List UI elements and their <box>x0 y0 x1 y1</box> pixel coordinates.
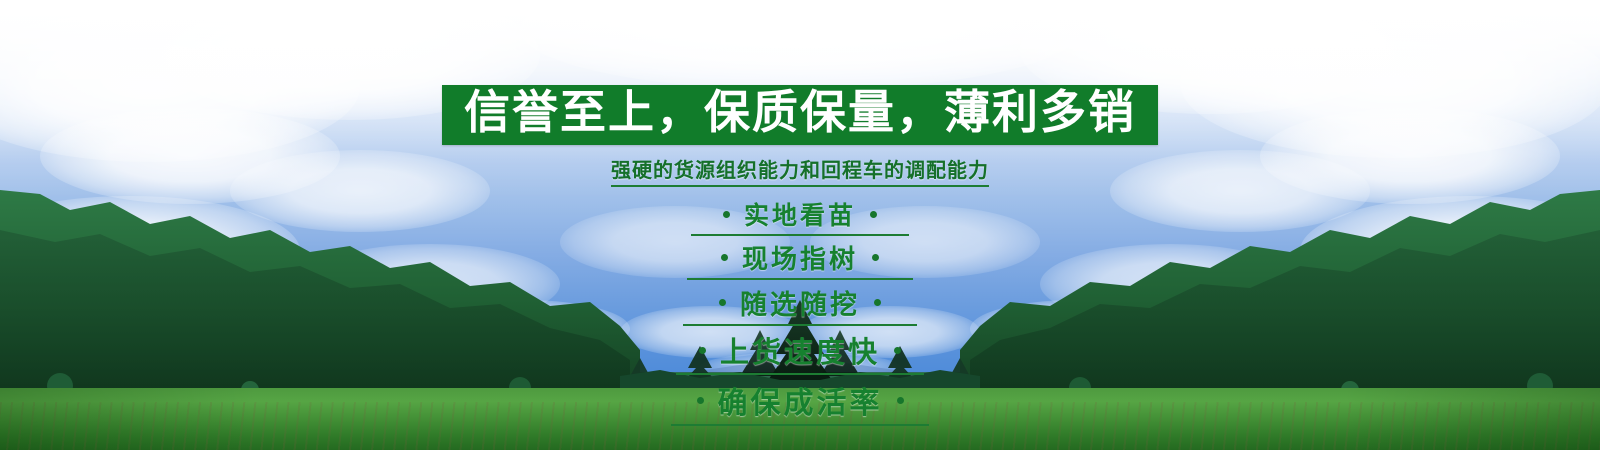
feature-item: 随选随挖 <box>683 282 917 326</box>
feature-item: 确保成活率 <box>671 377 929 426</box>
feature-label: 确保成活率 <box>718 378 883 422</box>
bullet-dot-icon <box>870 211 877 218</box>
feature-label: 实地看苗 <box>744 196 856 232</box>
bullet-dot-icon <box>897 397 904 404</box>
feature-label: 随选随挖 <box>740 283 860 322</box>
feature-list: 实地看苗 现场指树 随选随挖 上货速度快 确保成活率 <box>671 195 929 428</box>
feature-label: 上货速度快 <box>720 329 880 371</box>
bullet-dot-icon <box>719 299 726 306</box>
feature-item: 现场指树 <box>687 238 913 280</box>
bullet-dot-icon <box>723 211 730 218</box>
bullet-dot-icon <box>699 347 706 354</box>
banner-content: 信誉至上，保质保量，薄利多销 强硬的货源组织能力和回程车的调配能力 实地看苗 现… <box>0 0 1600 450</box>
feature-label: 现场指树 <box>742 239 858 276</box>
feature-item: 实地看苗 <box>691 195 909 236</box>
promo-banner: 信誉至上，保质保量，薄利多销 强硬的货源组织能力和回程车的调配能力 实地看苗 现… <box>0 0 1600 450</box>
bullet-dot-icon <box>721 254 728 261</box>
feature-item: 上货速度快 <box>676 328 924 375</box>
bullet-dot-icon <box>894 347 901 354</box>
bullet-dot-icon <box>697 397 704 404</box>
subtitle-text: 强硬的货源组织能力和回程车的调配能力 <box>611 154 989 187</box>
headline-text: 信誉至上，保质保量，薄利多销 <box>464 89 1136 135</box>
bullet-dot-icon <box>872 254 879 261</box>
headline-banner-bar: 信誉至上，保质保量，薄利多销 <box>442 85 1158 145</box>
bullet-dot-icon <box>874 299 881 306</box>
